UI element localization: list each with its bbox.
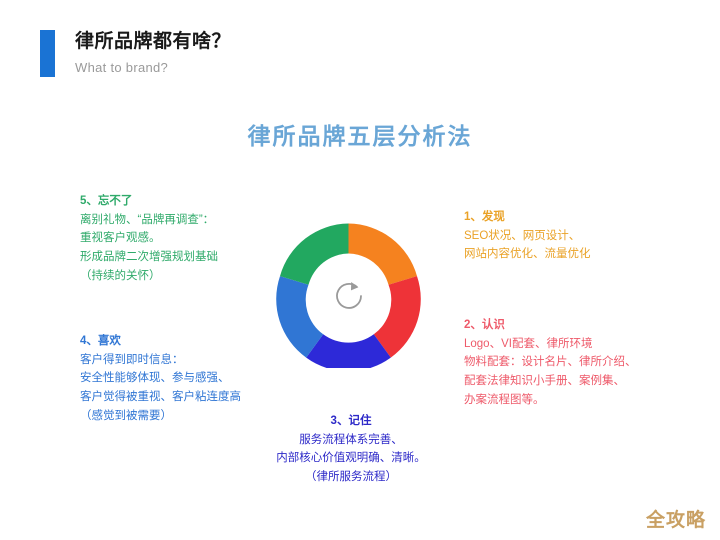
note-step-5-line-3: 形成品牌二次增强规划基础 (80, 248, 218, 267)
page-header: 律所品牌都有啥？ What to brand? (40, 30, 231, 77)
note-step-3: 3、记住 服务流程体系完善、 内部核心价值观明确、清晰。 （律所服务流程） (236, 412, 466, 487)
note-step-4-line-0: 4、喜欢 (80, 332, 241, 351)
note-step-1: 1、发现 SEO状况、网页设计、 网站内容优化、流量优化 (464, 208, 591, 264)
note-step-2-line-2: 物料配套：设计名片、律所介绍、 (464, 353, 637, 372)
note-step-5-line-1: 离别礼物、“品牌再调查”： (80, 211, 218, 230)
note-step-1-line-2: 网站内容优化、流量优化 (464, 245, 591, 264)
note-step-4: 4、喜欢 客户得到即时信息： 安全性能够体现、参与感强、 客户觉得被重视、客户粘… (80, 332, 241, 425)
note-step-4-paren: （感觉到被需要） (80, 410, 172, 422)
note-step-2-line-4: 办案流程图等。 (464, 391, 637, 410)
note-step-2: 2、认识 Logo、VI配套、律所环境 物料配套：设计名片、律所介绍、 配套法律… (464, 316, 637, 409)
note-step-3-line-1: 服务流程体系完善、 (236, 431, 466, 450)
note-step-4-line-2: 安全性能够体现、参与感强、 (80, 369, 241, 388)
diagram-heading: 律所品牌五层分析法 (0, 117, 720, 151)
note-step-4-line-1: 客户得到即时信息： (80, 351, 241, 370)
refresh-cycle-icon (327, 274, 371, 318)
note-step-3-line-0: 3、记住 (236, 412, 466, 431)
note-step-1-line-1: SEO状况、网页设计、 (464, 227, 591, 246)
page-title: 律所品牌都有啥？ (75, 30, 231, 54)
note-step-1-line-0: 1、发现 (464, 208, 591, 227)
donut-chart (276, 223, 421, 368)
note-step-3-line-2: 内部核心价值观明确、清晰。 (236, 449, 466, 468)
header-text-group: 律所品牌都有啥？ What to brand? (75, 30, 231, 77)
page-subtitle: What to brand? (75, 60, 231, 77)
note-step-2-line-1: Logo、VI配套、律所环境 (464, 335, 637, 354)
note-step-5-line-0: 5、忘不了 (80, 192, 218, 211)
note-step-5-line-2: 重视客户观感。 (80, 229, 218, 248)
note-step-5-paren: （持续的关怀） (80, 270, 161, 282)
note-step-5: 5、忘不了 离别礼物、“品牌再调查”： 重视客户观感。 形成品牌二次增强规划基础… (80, 192, 218, 285)
note-step-2-line-0: 2、认识 (464, 316, 637, 335)
note-step-3-paren: （律所服务流程） (305, 471, 397, 483)
note-step-4-line-3: 客户觉得被重视、客户粘连度高 (80, 388, 241, 407)
note-step-2-line-3: 配套法律知识小手册、案例集、 (464, 372, 637, 391)
header-accent-bar (40, 30, 55, 77)
watermark: 全攻略 (646, 505, 706, 532)
